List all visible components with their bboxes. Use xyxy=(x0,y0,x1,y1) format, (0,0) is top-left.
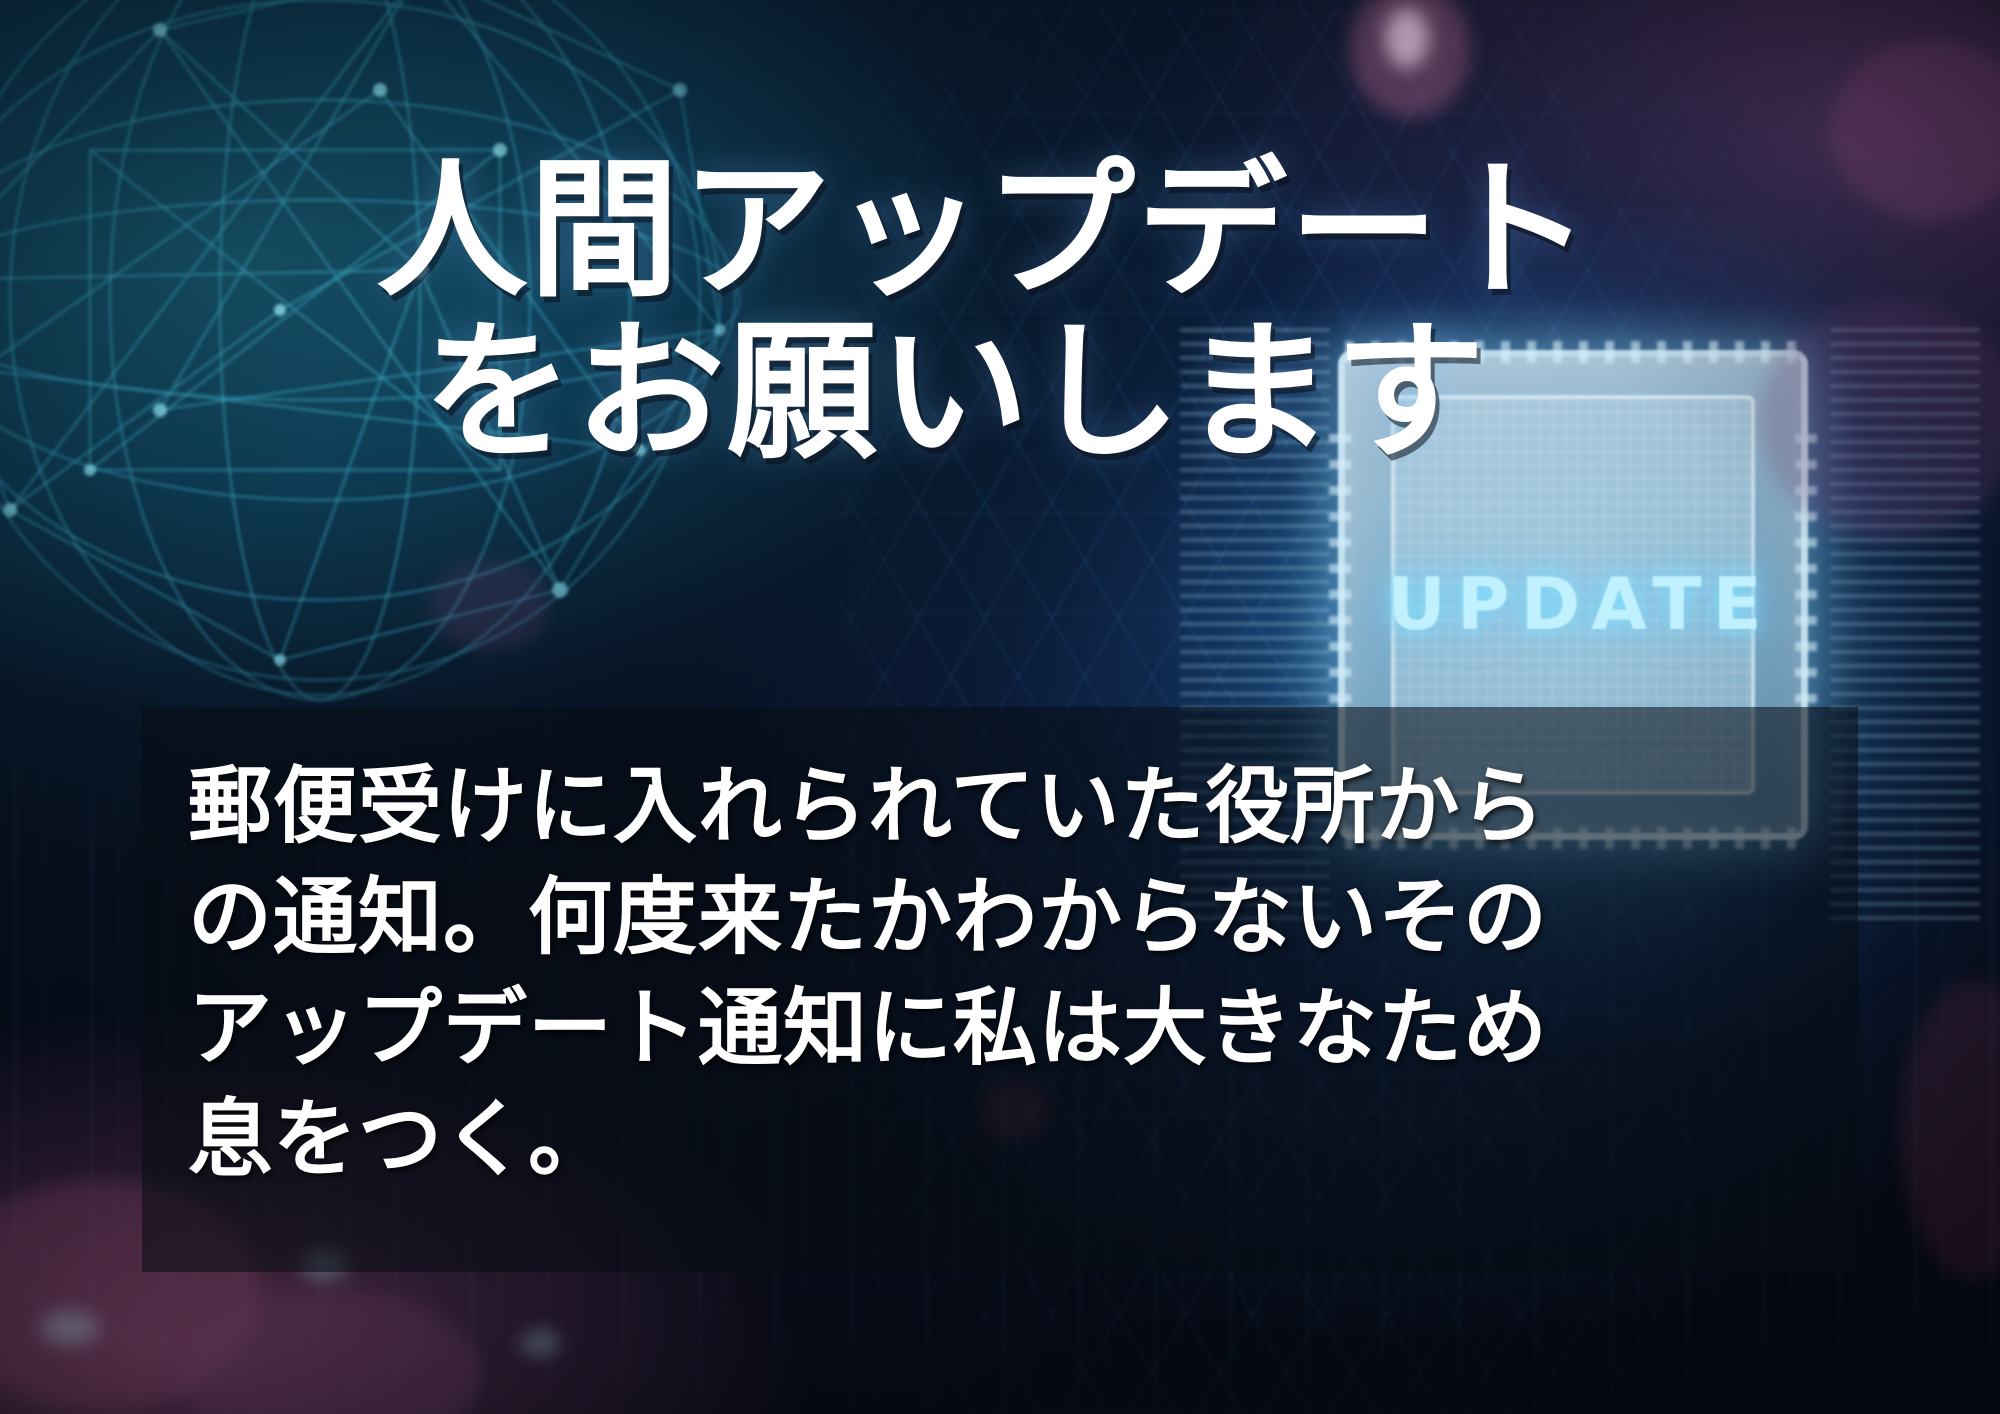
header-image-canvas: UPDATE 人間アップデート をお願いします 郵便受けに入れられていた役所から… xyxy=(0,0,2000,1414)
body-text-panel: 郵便受けに入れられていた役所からの通知。何度来たかわからないそのアップデート通知… xyxy=(142,707,1858,1272)
network-sphere-graphic xyxy=(0,0,860,830)
body-paragraph: 郵便受けに入れられていた役所からの通知。何度来たかわからないそのアップデート通知… xyxy=(188,751,1812,1195)
body-line-2: の通知。何度来たかわからないその xyxy=(188,867,1548,966)
body-line-4: 息をつく。 xyxy=(188,1089,613,1188)
chip-pins-left xyxy=(1329,417,1351,703)
body-line-3: アップデート通知に私は大きなため xyxy=(188,978,1548,1077)
chip-pins-top xyxy=(1345,341,1801,363)
body-line-1: 郵便受けに入れられていた役所から xyxy=(188,756,1545,855)
chip-pins-right xyxy=(1795,417,1817,703)
chip-update-label: UPDATE xyxy=(1300,562,1860,646)
